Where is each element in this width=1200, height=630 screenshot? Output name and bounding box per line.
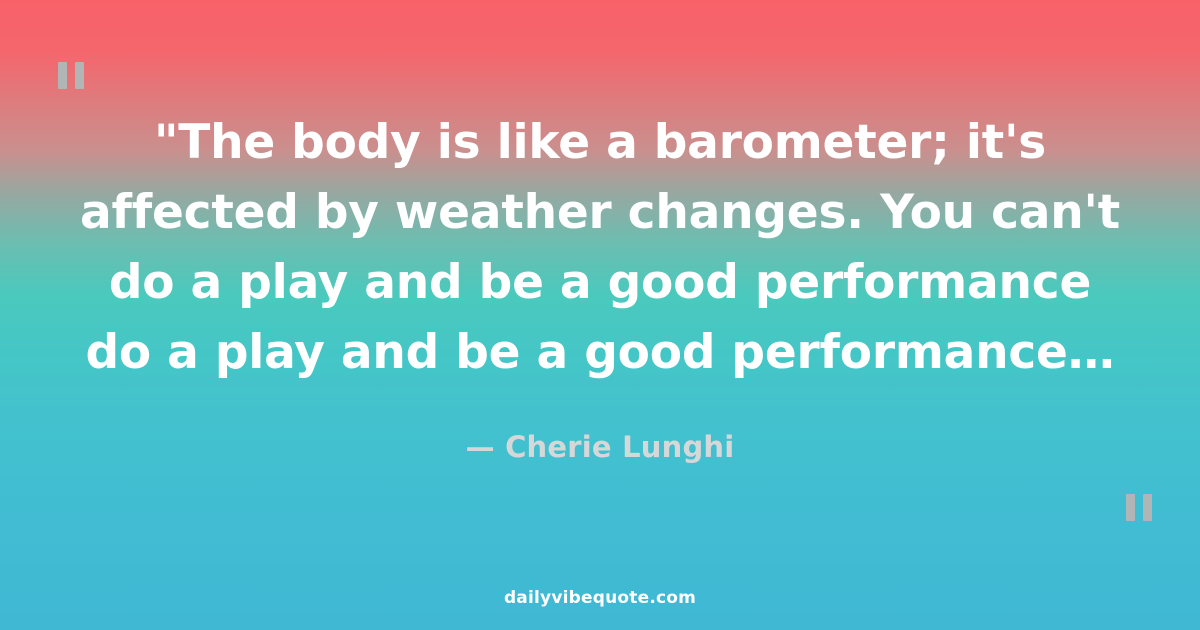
quote-bar-right [1143,494,1152,521]
quote-text: "The body is like a barometer; it's affe… [58,108,1142,388]
quote-card: "The body is like a barometer; it's affe… [0,0,1200,630]
quote-attribution: — Cherie Lunghi [58,388,1142,464]
quote-bar-left [1126,494,1135,521]
site-watermark: dailyvibequote.com [0,588,1200,608]
quote-content: "The body is like a barometer; it's affe… [0,0,1200,464]
closing-quote-icon [1126,494,1152,521]
